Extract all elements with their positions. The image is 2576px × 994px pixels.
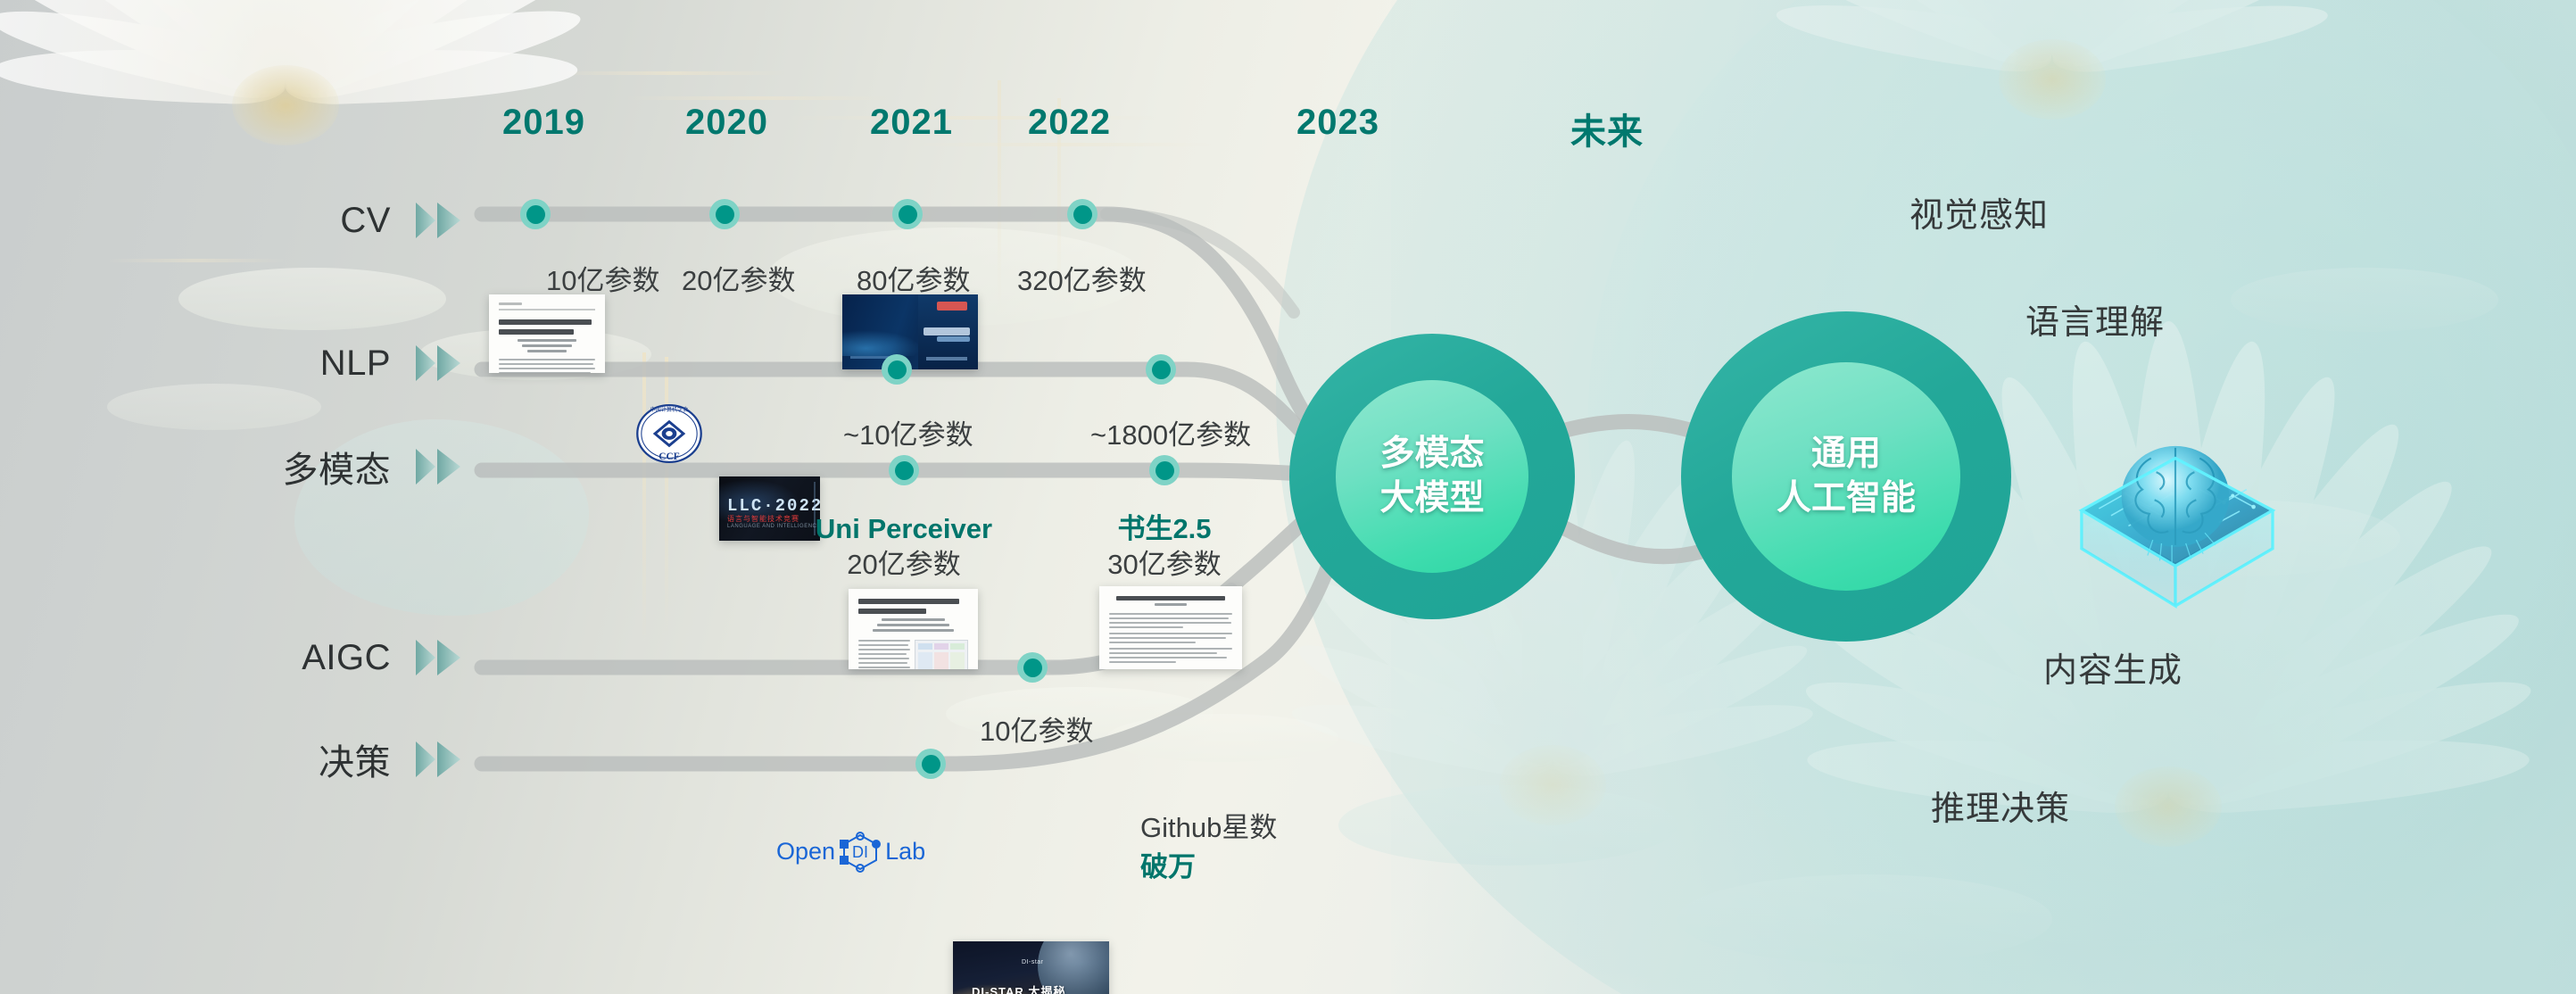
point-label: 80亿参数 <box>857 263 970 299</box>
outcome-circle-1[interactable]: 多模态大模型 <box>1289 334 1575 619</box>
capability-label-4: 推理决策 <box>1931 781 2070 830</box>
capability-label-1: 视觉感知 <box>1909 187 2049 236</box>
thumbnail-paper-uninet[interactable] <box>489 294 605 373</box>
year-label-2021: 2021 <box>870 103 953 143</box>
double-chevron-icon <box>414 446 464 487</box>
point-label-sub: 80亿参数 <box>857 263 970 299</box>
outcome-circle-line: 人工智能 <box>1777 476 1916 521</box>
year-label-2019: 2019 <box>502 103 585 143</box>
point-label-title: 破万 <box>1140 849 1196 885</box>
svg-text:中国计算机学会: 中国计算机学会 <box>650 406 689 413</box>
row-label-text: AIGC <box>302 638 391 678</box>
opendilab-glyph-icon: DI <box>837 830 883 873</box>
row-label-4[interactable]: AIGC <box>259 637 464 678</box>
timeline-node[interactable] <box>1149 455 1180 485</box>
point-label: 书生2.530亿参数 <box>1107 511 1221 582</box>
outcome-circle-line: 多模态 <box>1379 432 1484 476</box>
point-label-sub: 20亿参数 <box>682 263 795 299</box>
point-label: ~10亿参数 <box>843 418 973 453</box>
point-label: 破万 <box>1140 849 1196 885</box>
timeline-node[interactable] <box>915 749 946 779</box>
row-label-5[interactable]: 决策 <box>259 733 464 785</box>
timeline-node[interactable] <box>520 199 551 229</box>
double-chevron-icon <box>414 343 464 384</box>
point-label: Github星数 <box>1140 810 1277 846</box>
double-chevron-icon <box>414 637 464 678</box>
row-label-1[interactable]: CV <box>259 200 464 241</box>
opendilab-logo[interactable]: Open DI Lab <box>776 830 925 873</box>
outcome-circle-inner: 多模态大模型 <box>1336 380 1528 573</box>
point-label-title: Uni Perceiver <box>816 511 992 547</box>
svg-text:CCF: CCF <box>658 451 679 462</box>
point-label: 10亿参数 <box>980 714 1093 750</box>
timeline-node[interactable] <box>889 455 919 485</box>
point-label-sub: 320亿参数 <box>1017 263 1147 299</box>
point-label: 20亿参数 <box>682 263 795 299</box>
slide-canvas: CVNLP多模态AIGC决策 20192020202120222023未来 <box>0 0 2576 994</box>
timeline-node[interactable] <box>1017 652 1048 683</box>
outcome-circle-line: 通用 <box>1811 432 1881 476</box>
thumbnail-distar[interactable]: DI-star DI-STAR 大揭秘 <box>953 941 1109 994</box>
outcome-circle-inner: 通用人工智能 <box>1732 362 1960 591</box>
double-chevron-icon <box>414 200 464 241</box>
point-label: Uni Perceiver20亿参数 <box>816 511 992 582</box>
year-label-未来: 未来 <box>1570 103 1644 154</box>
capability-label-3: 内容生成 <box>2043 642 2183 692</box>
svg-text:DI: DI <box>852 843 868 861</box>
capability-label-2: 语言理解 <box>2025 294 2165 344</box>
point-label-sub: ~10亿参数 <box>843 418 973 453</box>
point-label-sub: ~1800亿参数 <box>1090 418 1251 453</box>
thumbnail-llc-2022[interactable]: LLC·2022 语言与智能技术竞赛 LANGUAGE AND INTELLIG… <box>719 476 820 541</box>
point-label: 10亿参数 <box>546 263 659 299</box>
thumbnail-news-shusheng[interactable] <box>1099 586 1242 669</box>
timeline-node[interactable] <box>1146 354 1176 385</box>
row-label-text: NLP <box>320 344 391 384</box>
year-label-2022: 2022 <box>1028 103 1111 143</box>
outcome-circle-line: 大模型 <box>1379 476 1484 521</box>
row-label-text: 决策 <box>319 733 391 785</box>
outcome-circle-2[interactable]: 通用人工智能 <box>1681 311 2011 642</box>
row-label-3[interactable]: 多模态 <box>259 441 464 493</box>
point-label-title: 书生2.5 <box>1107 511 1221 547</box>
timeline-node[interactable] <box>1067 199 1097 229</box>
point-label: 320亿参数 <box>1017 263 1147 299</box>
timeline-node[interactable] <box>882 354 912 385</box>
thumbnail-ccf-logo[interactable]: CCF 中国计算机学会 <box>635 400 703 468</box>
timeline-node[interactable] <box>892 199 923 229</box>
point-label: ~1800亿参数 <box>1090 418 1251 453</box>
year-label-2023: 2023 <box>1296 103 1379 143</box>
timeline-node[interactable] <box>709 199 740 229</box>
opendilab-text-lab: Lab <box>885 838 925 866</box>
point-label-sub: 20亿参数 <box>816 547 992 583</box>
point-label-sub: 30亿参数 <box>1107 547 1221 583</box>
year-label-2020: 2020 <box>685 103 768 143</box>
thumbnail-paper-uniperceiver[interactable] <box>849 589 978 669</box>
brain-chip-icon <box>2045 378 2306 639</box>
point-label-sub: 10亿参数 <box>546 263 659 299</box>
double-chevron-icon <box>414 739 464 780</box>
row-label-text: 多模态 <box>283 441 392 493</box>
row-label-text: CV <box>340 201 391 241</box>
point-label-sub: 10亿参数 <box>980 714 1093 750</box>
point-label-sub: Github星数 <box>1140 810 1277 846</box>
row-label-2[interactable]: NLP <box>259 343 464 384</box>
thumbnail-report-cover[interactable] <box>842 294 978 369</box>
opendilab-text-open: Open <box>776 838 835 866</box>
